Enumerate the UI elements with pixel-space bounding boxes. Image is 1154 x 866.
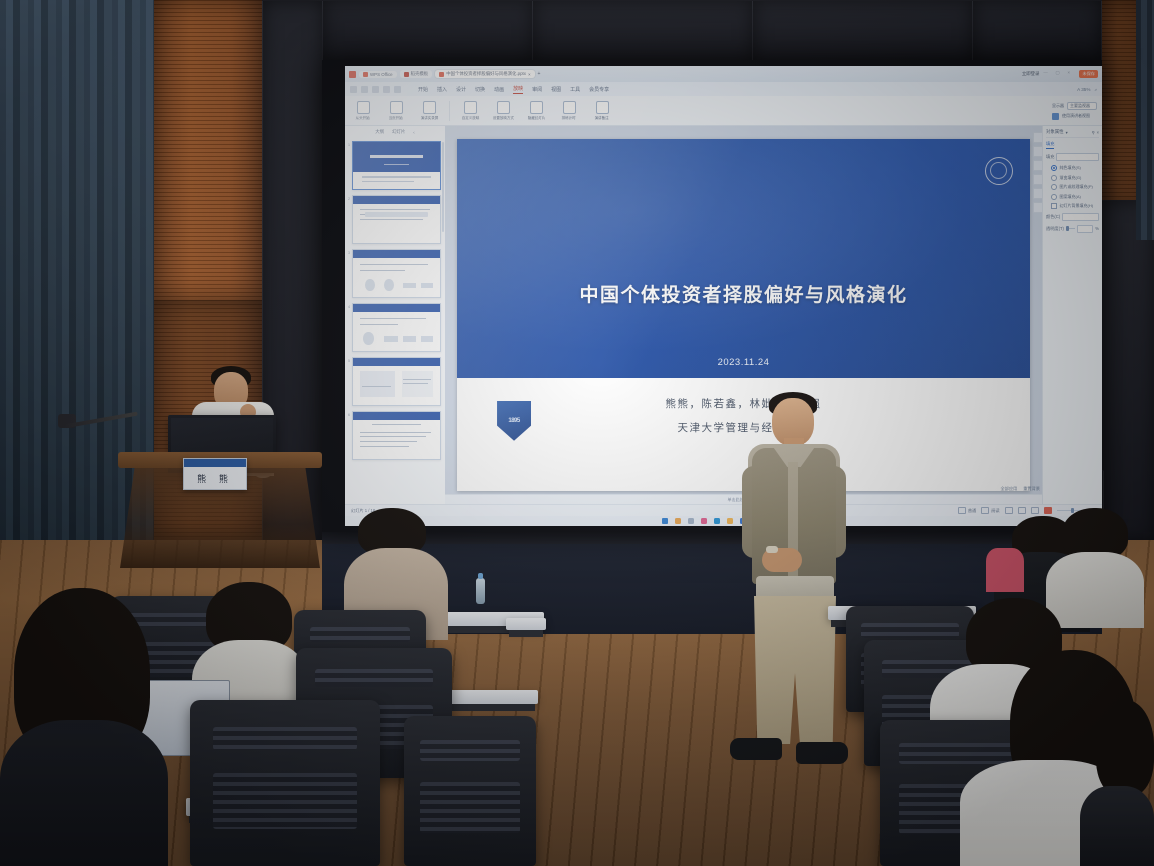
slides-tab[interactable]: 幻灯片 [392,129,405,135]
tab-transition[interactable]: 切换 [475,86,485,93]
windows-start-icon[interactable] [662,518,668,524]
name-card-text: 熊 熊 [184,467,246,489]
tab-templates-label: 稻壳模板 [411,71,429,77]
edge-icon[interactable] [714,518,720,524]
ribbon-from-start[interactable]: 从头开始 [350,101,376,121]
tab-insert[interactable]: 插入 [437,86,447,93]
tab-design[interactable]: 设计 [456,86,466,93]
save-icon[interactable] [361,86,368,93]
play-from-current-icon [390,101,403,114]
reading-view-icon [981,507,989,514]
custom-show-icon [464,101,477,114]
fill-select[interactable] [1056,153,1099,161]
pin-icon[interactable]: ⚲ [1091,130,1094,135]
tju-seal-icon [985,157,1013,185]
color-row: 颜色(C) [1046,213,1099,221]
close-icon[interactable]: × [1067,70,1075,78]
tab-member[interactable]: 会员专享 [589,86,609,93]
wall-panel-b [322,0,534,64]
fill-section-row: 填充 [1046,153,1099,161]
properties-panel-header: 对象属性 ▾ ⚲ × [1046,129,1099,138]
name-card: 熊 熊 [183,458,247,490]
ribbon-from-current-label: 当页开始 [389,116,403,121]
slide-date: 2023.11.24 [457,357,1030,368]
thumbnail-photo-2 [365,212,428,217]
ribbon-tab-list: 开始 插入 设计 切换 动画 放映 审阅 视图 工具 会员专享 [418,85,609,94]
thumbnail-number-4: 4 [348,305,350,309]
monitor-select[interactable]: 主要监视器 [1067,102,1097,110]
thumbnail-slide-6[interactable]: 6 [352,411,441,460]
sorter-view-icon[interactable] [1005,507,1013,514]
ribbon-toolbar: 从头开始 当页开始 演讲实录屏 自定义放映 设置放映方式 [345,96,1102,126]
slideshow-view-icon[interactable] [1044,507,1052,514]
wall-panel-e [972,0,1102,64]
option-picture-fill[interactable]: 图片或纹理填充(P) [1051,184,1099,190]
ribbon-rehearse-label: 排练计时 [562,116,576,121]
view-normal[interactable]: 普通 [958,507,976,514]
redo-icon[interactable] [383,86,390,93]
option-solid-fill[interactable]: 纯色填充(S) [1051,165,1099,171]
pptx-file-icon [439,72,444,77]
radio-pattern-fill-icon [1051,194,1057,200]
wood-acoustic-panel-left-upper [152,0,262,300]
lecture-hall-photo: WPS Office 稻壳模板 中国个体投资者择股偏好与风格演化.pptx × … [0,0,1154,866]
transparency-input[interactable] [1077,225,1093,233]
outline-tab[interactable]: 大纲 [375,129,384,135]
name-card-header [184,459,246,467]
audience-hair-8 [1096,700,1154,796]
wall-panel-d [752,0,974,64]
tab-wps-office-label: WPS Office [370,72,393,77]
radio-solid-fill-icon [1051,165,1057,171]
slide-title-background [457,139,1030,378]
speaker-left-shoe [730,738,782,760]
option-gradient-fill[interactable]: 渐变填充(G) [1051,175,1099,181]
close-tab-icon[interactable]: × [528,72,531,77]
play-from-start-icon [357,101,370,114]
thumbnail-scrollbar[interactable] [442,142,444,232]
file-menu-icon[interactable] [350,86,357,93]
option-slide-bg-label: 幻灯片背景填充(H) [1060,203,1094,209]
account-login-label[interactable]: 立即登录 [1022,71,1040,77]
ribbon-custom-show[interactable]: 自定义放映 [457,101,483,121]
wall-panel-c [532,0,754,64]
record-icon [423,101,436,114]
setup-show-icon [497,101,510,114]
thumbnail-slide-2[interactable]: 2 [352,195,441,244]
tab-templates[interactable]: 稻壳模板 [400,70,433,78]
rehearse-icon [563,101,576,114]
explorer-icon[interactable] [688,518,694,524]
files-icon[interactable] [727,518,733,524]
tab-wps-office[interactable]: WPS Office [359,71,397,78]
ribbon-record-label: 演讲实录屏 [420,116,437,121]
print-icon[interactable] [394,86,401,93]
panel-action-bar: 全部应用 重置背景 [1000,486,1040,492]
menu-bar: 开始 插入 设计 切换 动画 放映 审阅 视图 工具 会员专享 A 35% ⌕ [345,82,1102,96]
audience-person-2b [986,548,1024,592]
windows-taskbar[interactable] [345,516,1102,526]
wps-tab-icon [363,72,368,77]
transparency-unit: % [1095,226,1099,231]
view-reading[interactable]: 阅读 [981,507,999,514]
option-gradient-fill-label: 渐变填充(G) [1060,175,1082,181]
current-slide[interactable]: 中国个体投资者择股偏好与风格演化 2023.11.24 1895 熊熊，陈若鑫，… [457,139,1030,491]
tab-view[interactable]: 视图 [551,86,561,93]
ribbon-notes[interactable]: 演讲备注 [589,101,615,121]
wps-office-window: WPS Office 稻壳模板 中国个体投资者择股偏好与风格演化.pptx × … [345,66,1102,526]
normal-view-icon [958,507,966,514]
ribbon-from-current[interactable]: 当页开始 [383,101,409,121]
transparency-slider[interactable] [1066,228,1075,229]
projected-screen: WPS Office 稻壳模板 中国个体投资者择股偏好与风格演化.pptx × … [345,66,1102,526]
option-picture-fill-label: 图片或纹理填充(P) [1060,184,1093,190]
slide-thumbnail-pane[interactable]: 大纲 幻灯片 ‹ 1 2 [345,126,446,504]
thumbnail-slide-3[interactable]: 3 [352,249,441,298]
search-icon[interactable]: ⌕ [1094,87,1097,92]
maximize-icon[interactable]: ▢ [1055,70,1063,78]
slide-canvas[interactable]: 中国个体投资者择股偏好与风格演化 2023.11.24 1895 熊熊，陈若鑫，… [445,126,1042,504]
thumbnail-number-6: 6 [348,413,350,417]
presenter-view-label: 使用演讲者视图 [1062,113,1090,119]
checkbox-slide-bg-icon [1051,203,1057,209]
desk-far-right [506,618,546,630]
weather-icon[interactable] [675,518,681,524]
ribbon-notes-label: 演讲备注 [595,116,609,121]
option-pattern-fill-label: 图案填充(A) [1060,194,1081,200]
audience-person-6 [0,720,168,866]
tab-slideshow[interactable]: 放映 [513,85,523,94]
notes-icon [596,101,609,114]
ribbon-record[interactable]: 演讲实录屏 [416,101,442,121]
presenter-view-checkbox[interactable] [1052,113,1059,120]
fit-to-window-icon[interactable] [1018,507,1026,514]
ribbon-custom-show-label: 自定义放映 [461,116,478,121]
color-picker[interactable] [1062,213,1099,221]
ribbon-from-start-label: 从头开始 [356,116,370,121]
thumbnail-pane-header: 大纲 幻灯片 ‹ [345,126,445,138]
thumbnail-slide-5[interactable]: 5 [352,357,441,406]
monitor-label: 显示器 [1052,103,1064,109]
option-pattern-fill[interactable]: 图案填充(A) [1051,194,1099,200]
transparency-row: 透明度(T) % [1046,225,1099,233]
view-normal-label: 普通 [968,508,976,514]
ribbon-rehearse[interactable]: 排练计时 [556,101,582,121]
slide-title: 中国个体投资者择股偏好与风格演化 [457,280,1030,307]
speaker-right-shoe [796,742,848,764]
window-title-bar: WPS Office 稻壳模板 中国个体投资者择股偏好与风格演化.pptx × … [345,66,1102,82]
minimize-icon[interactable]: — [1043,70,1051,78]
tab-start[interactable]: 开始 [418,86,428,93]
audience-person-8 [1080,786,1154,866]
undo-icon[interactable] [372,86,379,93]
thumbnail-slide-1[interactable]: 1 [352,141,441,190]
thumbnail-slide-4[interactable]: 4 [352,303,441,352]
ribbon-hide-slide[interactable]: 隐藏幻灯片 [523,101,549,121]
zoom-indicator-label: A 35% [1077,87,1090,92]
chevron-left-icon[interactable]: ‹ [413,130,414,135]
thumbnail-number-2: 2 [348,197,350,201]
reset-background-button[interactable]: 重置背景 [1023,486,1040,492]
speaker-wristwatch [766,546,778,553]
slide-authors: 熊熊，陈若鑫，林妣，孟永强 [457,396,1030,411]
ribbon-separator [449,101,450,121]
properties-panel-title: 对象属性 [1046,129,1064,135]
properties-fill-tab[interactable]: 填充 [1046,141,1054,149]
water-bottle [476,578,485,604]
chevron-down-icon[interactable]: ▾ [1066,130,1068,135]
ribbon-setup-show-label: 设置放映方式 [493,116,514,121]
ribbon-setup-show[interactable]: 设置放映方式 [490,101,516,121]
object-properties-panel[interactable]: 对象属性 ▾ ⚲ × 填充 填充 纯色填充(S) 渐变填充(G) [1042,126,1102,504]
thumbnail-number-5: 5 [348,359,350,363]
apply-all-button[interactable]: 全部应用 [1000,486,1017,492]
wps-logo-icon [349,71,356,78]
thumbnail-number-3: 3 [348,251,350,255]
new-tab-button[interactable]: + [538,71,541,77]
radio-picture-fill-icon [1051,184,1057,190]
tab-active-document-label: 中国个体投资者择股偏好与风格演化.pptx [446,71,526,77]
save-status-badge: 未保存 [1079,70,1098,78]
option-solid-fill-label: 纯色填充(S) [1060,165,1081,171]
slide-affiliation: 天津大学管理与经济学部 [457,420,1030,435]
close-icon[interactable]: × [1097,130,1099,135]
thumbnail-number-1: 1 [348,143,350,147]
tab-review[interactable]: 审阅 [532,86,542,93]
tab-animation[interactable]: 动画 [494,86,504,93]
ribbon-hide-slide-label: 隐藏幻灯片 [527,116,544,121]
stage-curtain-right [1136,0,1154,240]
audience-person-3 [1046,552,1144,628]
transparency-label: 透明度(T) [1046,226,1064,232]
chair-front-2 [404,716,536,866]
ribbon-monitor-group: 显示器 主要监视器 使用演讲者视图 [1052,102,1097,120]
view-reading-label: 阅读 [991,508,999,514]
tab-active-document[interactable]: 中国个体投资者择股偏好与风格演化.pptx × [435,70,534,78]
notes-toggle-icon[interactable] [1031,507,1039,514]
option-slide-bg-fill[interactable]: 幻灯片背景填充(H) [1051,203,1099,209]
right-side-toolbar[interactable] [1033,132,1042,213]
radio-gradient-fill-icon [1051,175,1057,181]
fill-section-label: 填充 [1046,154,1054,160]
chair-front-1 [190,700,380,866]
tab-tools[interactable]: 工具 [570,86,580,93]
wall-panel-f [1100,200,1154,542]
color-label: 颜色(C) [1046,214,1060,220]
search-icon[interactable] [701,518,707,524]
hide-slide-icon [530,101,543,114]
templates-tab-icon [404,72,409,77]
status-bar: 幻灯片 1 / 18 普通 阅读 94% [345,504,1102,516]
thumbnail-list[interactable]: 1 2 [345,138,445,504]
